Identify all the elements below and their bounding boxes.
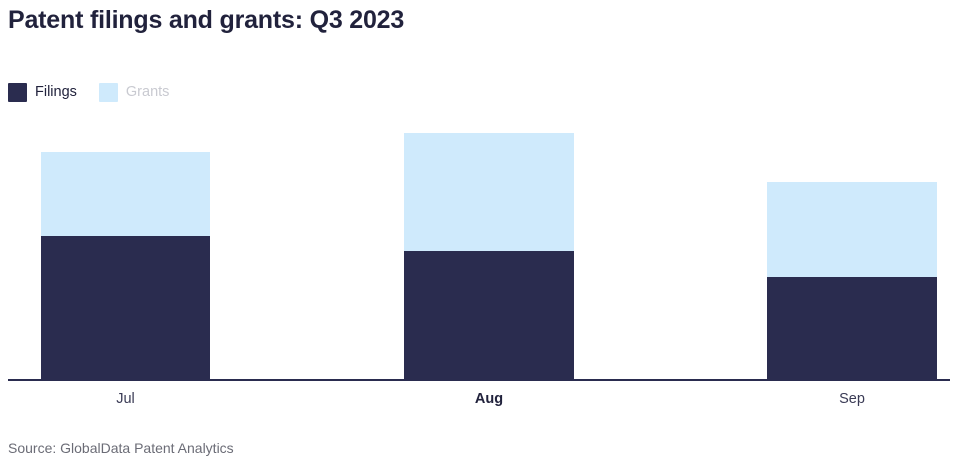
bar-segment-grants-jul[interactable] [41,152,210,236]
x-axis-tick-label-aug[interactable]: Aug [404,391,574,407]
legend-item-grants[interactable]: Grants [99,83,170,102]
bar-group-aug[interactable] [404,133,574,379]
chart-legend: Filings Grants [8,83,169,102]
bar-group-jul[interactable] [41,152,210,379]
chart-card: Patent filings and grants: Q3 2023 Filin… [0,0,977,466]
bar-segment-filings-aug[interactable] [404,251,574,379]
bar-group-sep[interactable] [767,182,937,379]
x-axis-tick-label-sep[interactable]: Sep [767,391,937,407]
legend-swatch-grants [99,83,118,102]
page-title: Patent filings and grants: Q3 2023 [8,6,404,35]
legend-swatch-filings [8,83,27,102]
bar-segment-filings-sep[interactable] [767,277,937,379]
bar-segment-filings-jul[interactable] [41,236,210,379]
plot-area: GlobalData JulAugSep [0,0,977,466]
bar-segment-grants-sep[interactable] [767,182,937,277]
x-axis-line [8,379,950,381]
x-axis-tick-label-jul[interactable]: Jul [41,391,210,407]
legend-item-filings[interactable]: Filings [8,83,77,102]
bar-segment-grants-aug[interactable] [404,133,574,251]
source-note: Source: GlobalData Patent Analytics [8,440,234,456]
legend-label-filings: Filings [35,83,77,102]
legend-label-grants: Grants [126,83,170,102]
